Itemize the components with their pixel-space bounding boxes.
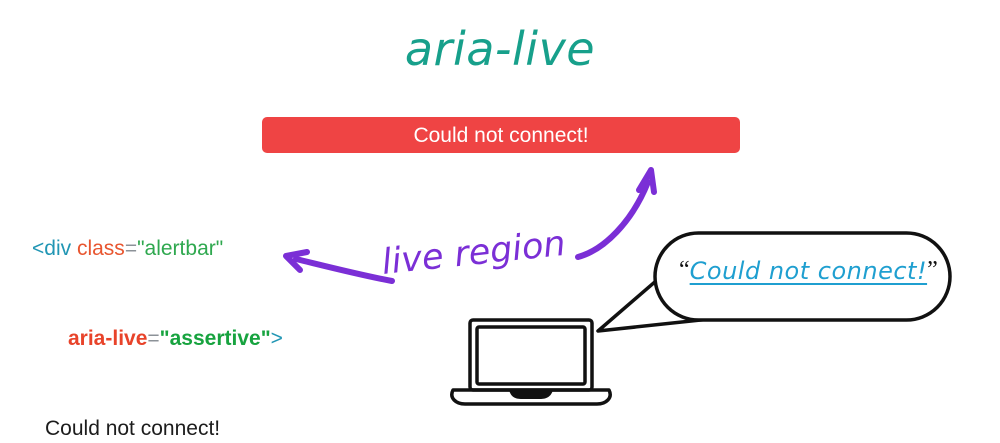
code-snippet: <div class="alertbar" aria-live="asserti… bbox=[32, 174, 283, 443]
laptop-notch bbox=[509, 390, 553, 399]
speech-bubble-text: “Could not connect!” bbox=[679, 257, 929, 285]
code-token-inner-text: Could not connect! bbox=[45, 417, 220, 440]
arrow-curved-up-right-icon bbox=[578, 170, 654, 257]
code-token-attr-class: class bbox=[77, 237, 125, 260]
code-token-attr-aria-live: aria-live bbox=[68, 327, 147, 350]
page-title: aria-live bbox=[0, 22, 1000, 76]
code-line-2: aria-live="assertive"> bbox=[32, 324, 283, 354]
code-line-1: <div class="alertbar" bbox=[32, 234, 283, 264]
alert-bar: Could not connect! bbox=[262, 117, 740, 153]
code-token-equals-1: = bbox=[125, 237, 137, 260]
quote-open: “ bbox=[679, 257, 690, 283]
code-token-tag-gt: > bbox=[271, 327, 283, 350]
code-token-value-alertbar: "alertbar" bbox=[137, 237, 223, 260]
alert-bar-message: Could not connect! bbox=[413, 125, 588, 146]
annotation-live-region-label: live region bbox=[380, 224, 567, 283]
code-token-tag-open: <div bbox=[32, 237, 71, 260]
diagram-canvas: aria-live Could not connect! <div class=… bbox=[0, 0, 1000, 443]
quote-close: ” bbox=[927, 257, 938, 283]
code-token-equals-2: = bbox=[147, 327, 159, 350]
speech-bubble-message: Could not connect! bbox=[690, 257, 927, 285]
arrow-left-icon bbox=[286, 252, 392, 281]
code-token-value-assertive: "assertive" bbox=[160, 327, 271, 350]
code-line-3: Could not connect! bbox=[32, 414, 283, 443]
